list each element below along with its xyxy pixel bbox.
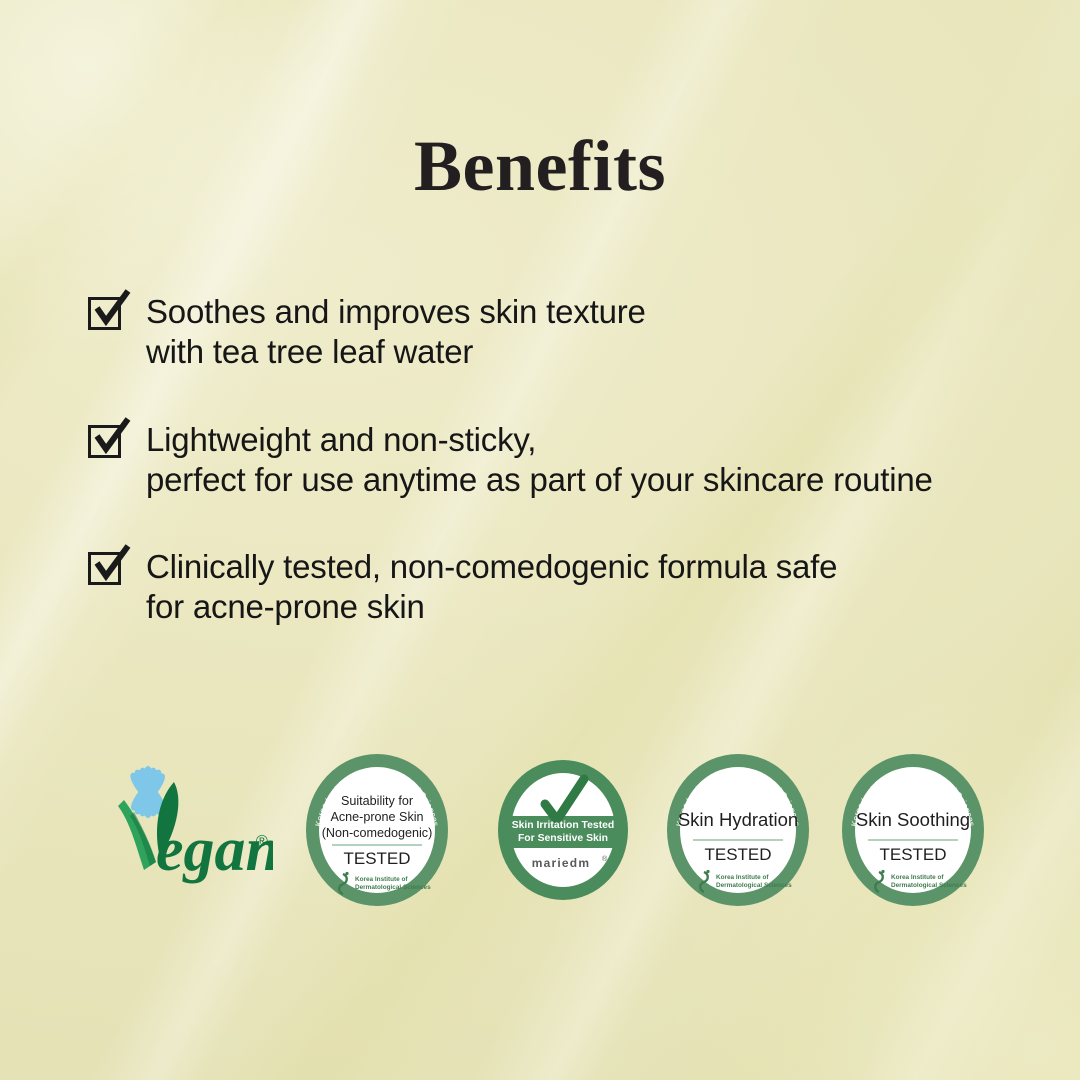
checkmark-icon xyxy=(88,425,121,458)
badge-brand: mariedm xyxy=(532,856,590,870)
badge-line: Skin Hydration xyxy=(678,809,798,830)
badge-skin-soothing: Korea Institute of Dermatological Scienc… xyxy=(833,742,993,917)
checkmark-icon xyxy=(88,552,121,585)
benefit-text: Clinically tested, non-comedogenic formu… xyxy=(146,547,837,628)
badge-line: Skin Irritation Tested xyxy=(512,820,615,831)
vegan-wordmark: egan xyxy=(156,816,273,884)
badge-suitability-acne-prone: Korea Institute of Dermatological Scienc… xyxy=(297,742,457,917)
badge-line: (Non-comedogenic) xyxy=(322,826,433,840)
badge-skin-hydration: Korea Institute of Dermatological Scienc… xyxy=(658,742,818,917)
badge-line: Acne-prone Skin xyxy=(330,810,423,824)
badge-status: TESTED xyxy=(879,845,946,864)
badge-skin-irritation-clinical: Skin Irritation Tested For Sensitive Ski… xyxy=(483,742,643,917)
badge-line: For Sensitive Skin xyxy=(518,833,608,844)
badge-status: TESTED xyxy=(343,849,410,868)
certification-badges-row: egan ® Korea Institute of Dermatological… xyxy=(0,742,1080,922)
benefit-item: Soothes and improves skin texture with t… xyxy=(88,292,1048,373)
badge-footer-line: Dermatological Sciences xyxy=(716,882,792,889)
badge-footer-line: Dermatological Sciences xyxy=(355,884,431,891)
badge-line: Skin Soothing xyxy=(856,809,970,830)
badge-footer-line: Korea Institute of xyxy=(716,874,769,881)
badge-footer-line: Dermatological Sciences xyxy=(891,882,967,889)
registered-mark: ® xyxy=(256,833,268,850)
page-title: Benefits xyxy=(0,130,1080,202)
badge-status: TESTED xyxy=(704,845,771,864)
benefit-text: Lightweight and non-sticky, perfect for … xyxy=(146,420,933,501)
vegan-logo: egan ® xyxy=(88,754,273,904)
benefits-page: Benefits Soothes and improves skin textu… xyxy=(0,0,1080,1080)
benefit-item: Clinically tested, non-comedogenic formu… xyxy=(88,547,1048,628)
badge-brand-mark: ® xyxy=(602,855,608,863)
benefits-list: Soothes and improves skin texture with t… xyxy=(88,292,1048,628)
checkmark-icon xyxy=(88,297,121,330)
badge-footer-line: Korea Institute of xyxy=(355,876,408,883)
badge-line: Suitability for xyxy=(341,794,413,808)
benefit-text: Soothes and improves skin texture with t… xyxy=(146,292,646,373)
badge-footer-line: Korea Institute of xyxy=(891,874,944,881)
benefit-item: Lightweight and non-sticky, perfect for … xyxy=(88,420,1048,501)
